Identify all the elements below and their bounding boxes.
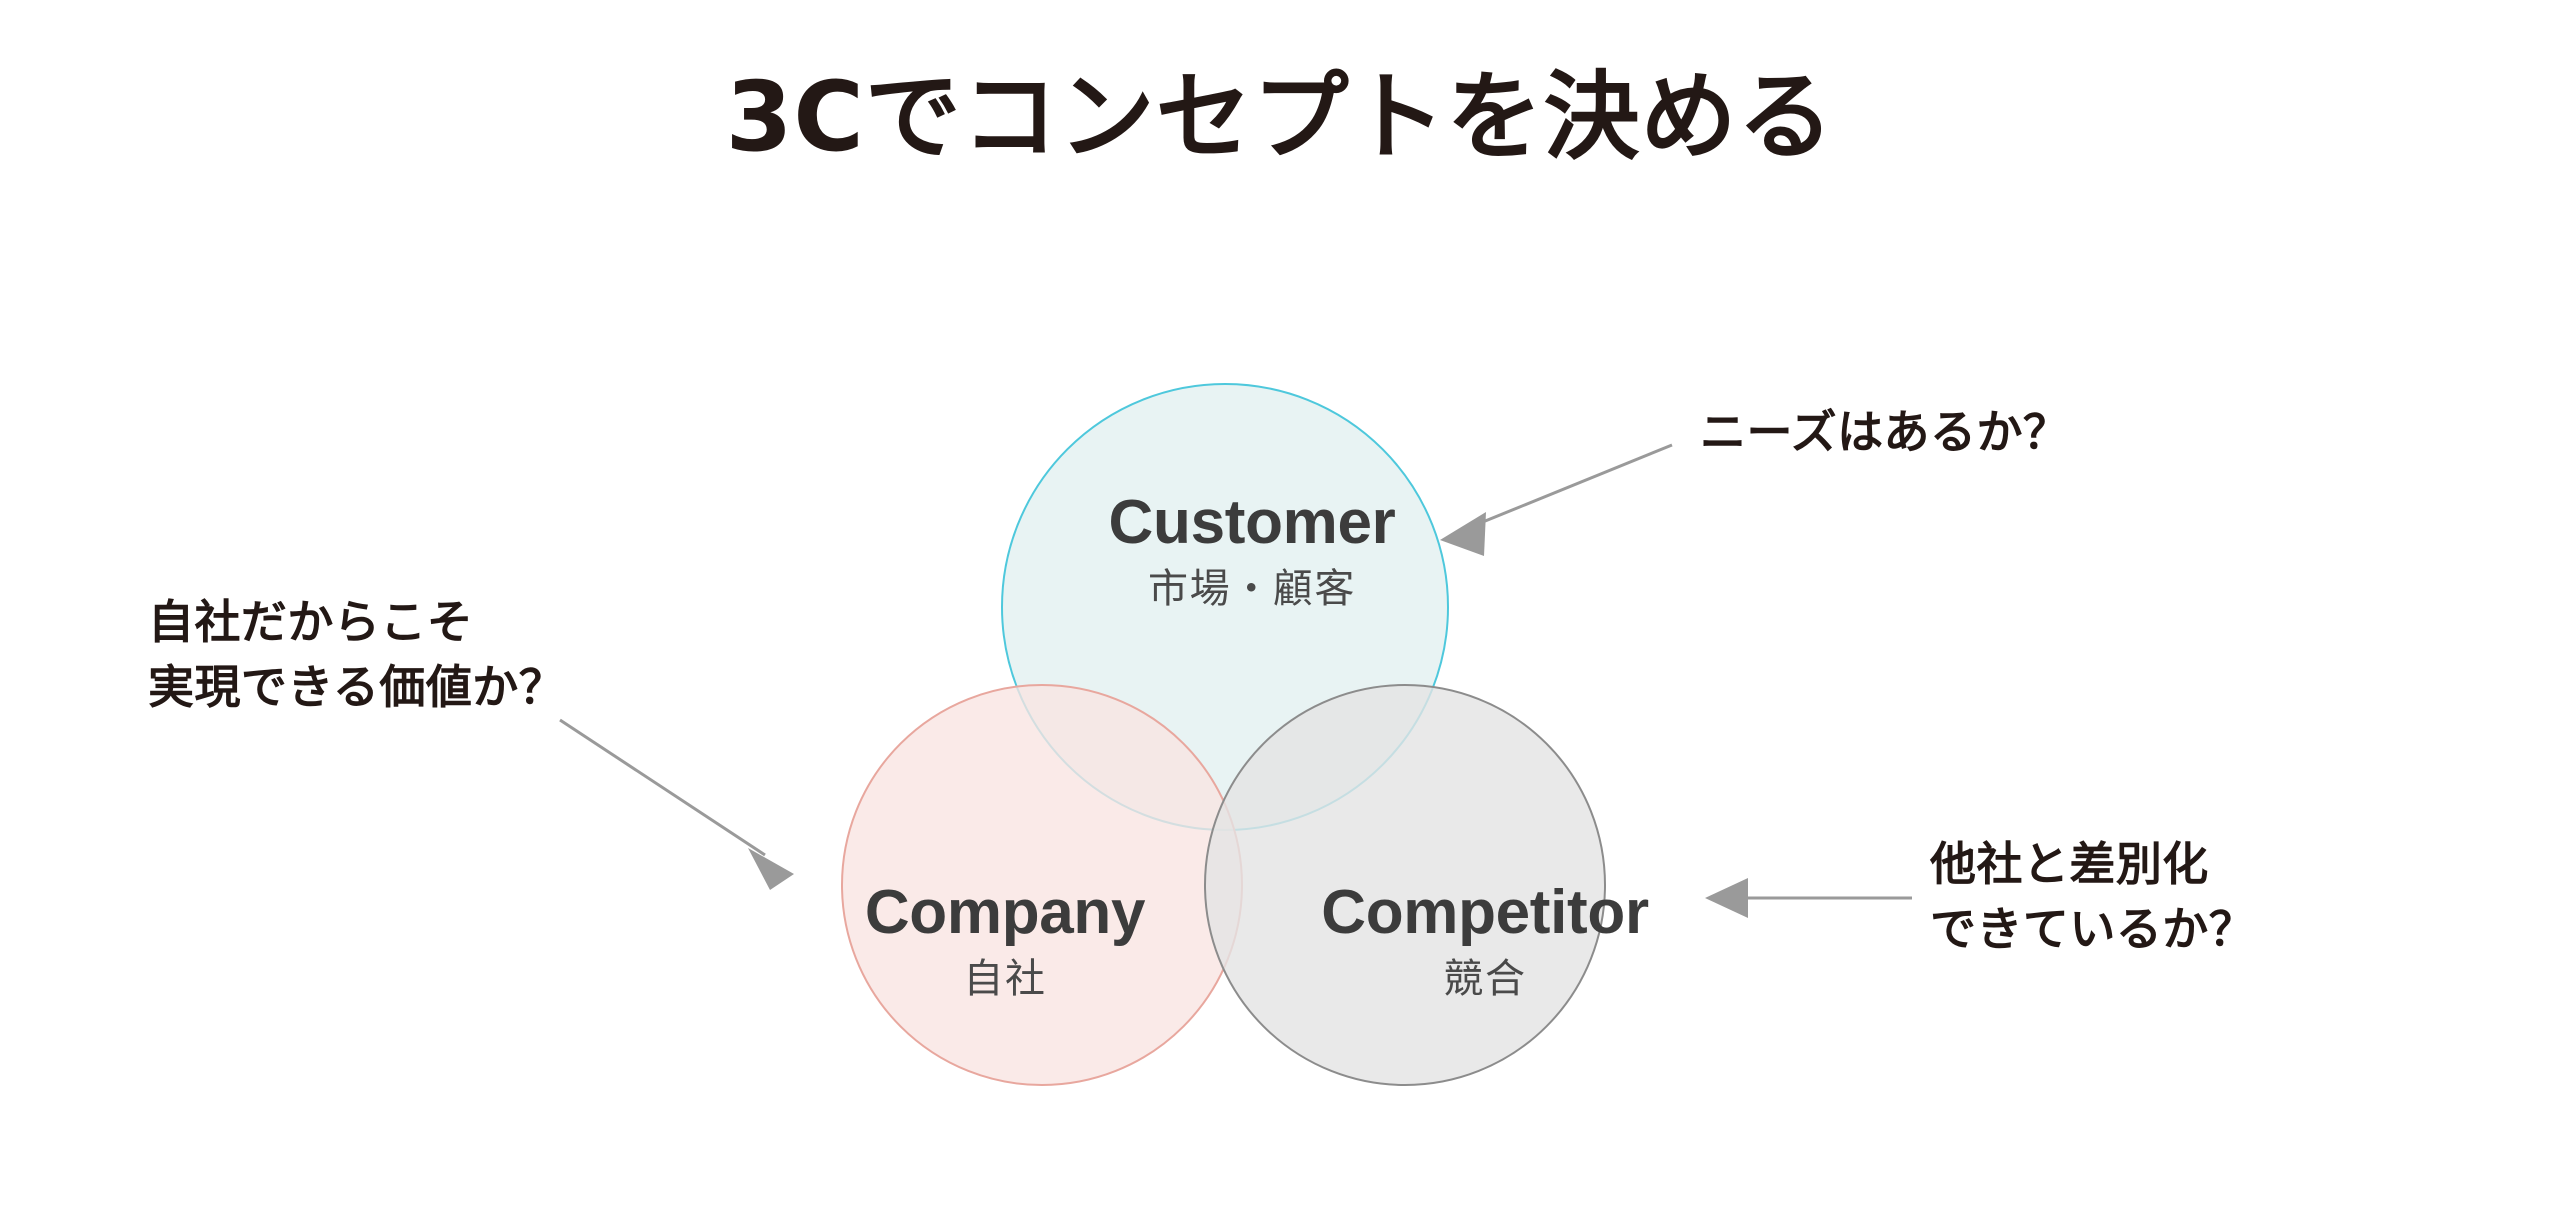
venn-label-company: Company 自社: [865, 880, 1145, 1009]
venn-label-company-en: Company: [865, 880, 1145, 945]
venn-label-customer: Customer 市場・顧客: [1109, 490, 1396, 619]
venn-label-competitor: Competitor 競合: [1321, 880, 1649, 1009]
annotation-customer: ニーズはあるか？: [1700, 400, 2069, 465]
venn-label-competitor-en: Competitor: [1321, 880, 1649, 945]
venn-circle-customer[interactable]: [1002, 384, 1448, 830]
venn-label-customer-en: Customer: [1109, 490, 1396, 555]
page-title: 3Cでコンセプトを決める: [0, 60, 2560, 175]
annotation-competitor: 他社と差別化 できているか？: [1930, 832, 2255, 963]
annotation-company-line-1: 自社だからこそ: [148, 590, 565, 655]
arrow-to-customer: [1440, 445, 1672, 556]
venn-circle-company[interactable]: [842, 685, 1242, 1085]
annotation-competitor-line-2: できているか？: [1930, 897, 2255, 962]
venn-label-competitor-ja: 競合: [1321, 949, 1649, 1009]
arrow-to-company: [560, 720, 794, 890]
arrow-to-competitor: [1705, 878, 1912, 918]
annotation-competitor-line-1: 他社と差別化: [1930, 832, 2255, 897]
annotation-company: 自社だからこそ 実現できる価値か？: [148, 590, 565, 721]
venn-circle-competitor[interactable]: [1205, 685, 1605, 1085]
venn-label-company-ja: 自社: [865, 949, 1145, 1009]
slide-canvas: 3Cでコンセプトを決める: [0, 0, 2560, 1210]
annotation-customer-line-1: ニーズはあるか？: [1700, 400, 2069, 465]
venn-label-customer-ja: 市場・顧客: [1109, 559, 1396, 619]
annotation-company-line-2: 実現できる価値か？: [148, 655, 565, 720]
